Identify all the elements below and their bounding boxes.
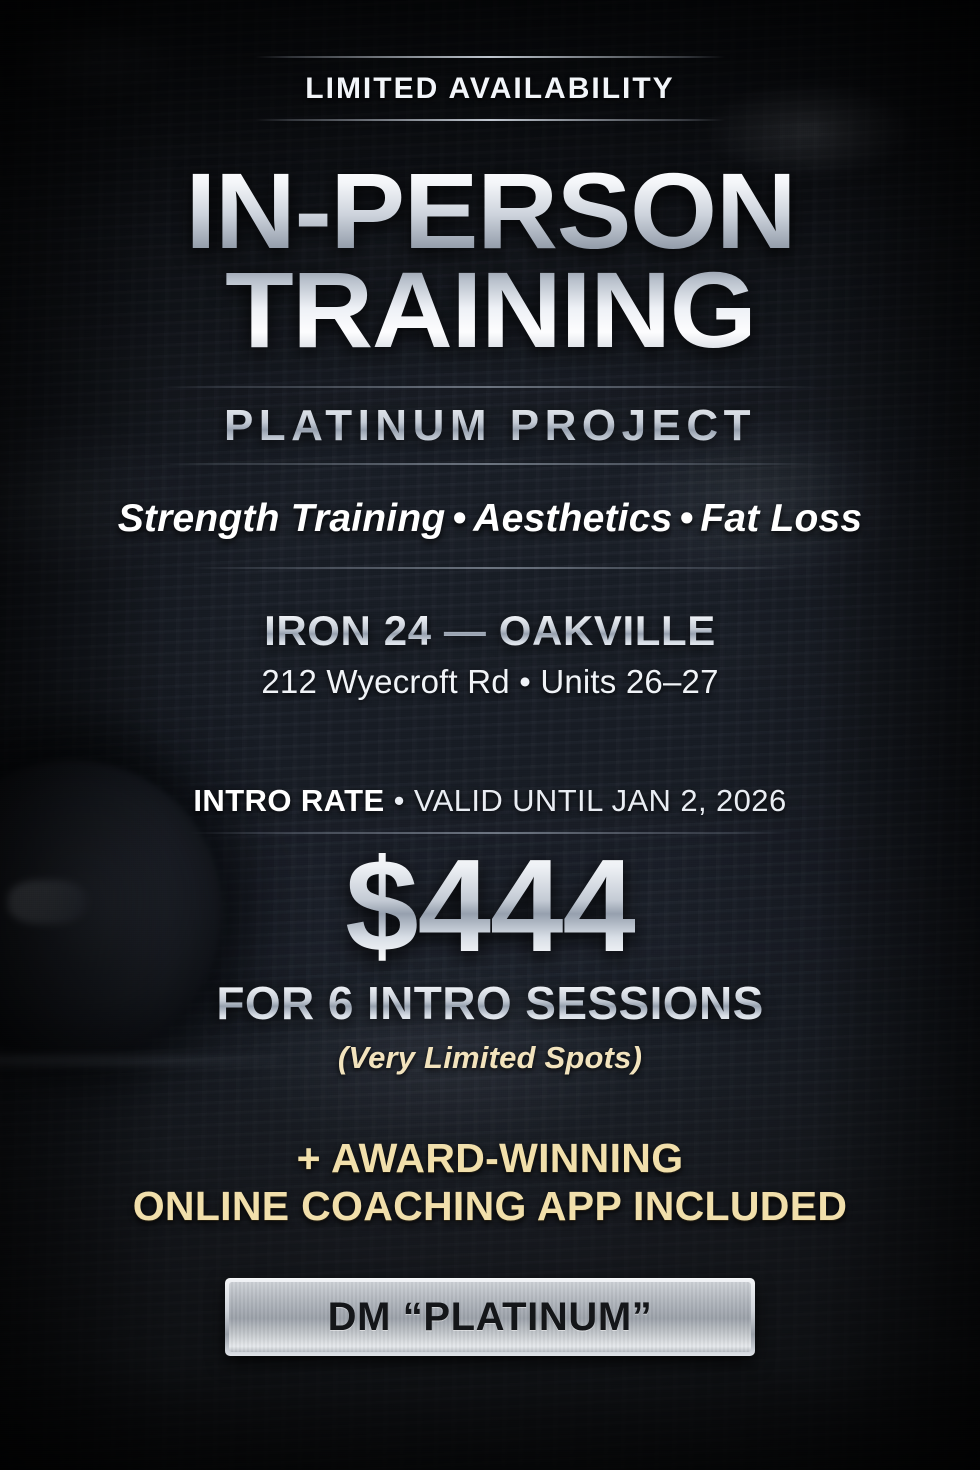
dm-platinum-button[interactable]: DM “PLATINUM” <box>225 1278 755 1356</box>
intro-rate-validity: VALID UNTIL JAN 2, 2026 <box>414 783 787 818</box>
intro-rate-line: INTRO RATE • VALID UNTIL JAN 2, 2026 <box>193 783 786 832</box>
poster-content: LIMITED AVAILABILITY IN-PERSON TRAINING … <box>0 0 980 1470</box>
offer-block: INTRO RATE • VALID UNTIL JAN 2, 2026 $44… <box>190 783 790 1076</box>
intro-rate-separator: • <box>394 783 405 818</box>
intro-rate-label: INTRO RATE <box>193 783 384 818</box>
divider-rule-tagline-bottom <box>190 567 790 569</box>
sessions-label: FOR 6 INTRO SESSIONS <box>216 976 763 1030</box>
bonus-line-1: + AWARD-WINNING <box>297 1135 684 1181</box>
bonus-offer: + AWARD-WINNING ONLINE COACHING APP INCL… <box>133 1134 848 1231</box>
bonus-line-2: ONLINE COACHING APP INCLUDED <box>133 1183 848 1229</box>
page-title: IN-PERSON TRAINING <box>185 161 795 360</box>
eyebrow-block: LIMITED AVAILABILITY <box>255 56 725 121</box>
price-amount: $444 <box>345 840 635 972</box>
headline-line-2: TRAINING <box>225 249 755 370</box>
tagline: Strength Training•Aesthetics•Fat Loss <box>118 497 863 541</box>
venue-address: 212 Wyecroft Rd • Units 26–27 <box>261 663 718 701</box>
divider-rule-eyebrow-bottom <box>255 119 725 121</box>
tagline-item-3: Fat Loss <box>700 497 862 540</box>
venue-block: IRON 24 — OAKVILLE 212 Wyecroft Rd • Uni… <box>261 607 718 701</box>
subhead-block: PLATINUM PROJECT <box>160 386 820 465</box>
tagline-item-2: Aesthetics <box>473 497 672 540</box>
eyebrow-text: LIMITED AVAILABILITY <box>305 58 674 119</box>
venue-name: IRON 24 — OAKVILLE <box>261 607 718 655</box>
divider-rule-subhead-bottom <box>160 463 820 465</box>
cta-plate-surface: DM “PLATINUM” <box>229 1282 751 1352</box>
tagline-separator-2: • <box>679 497 693 540</box>
program-subtitle: PLATINUM PROJECT <box>224 388 756 463</box>
limited-spots-note: (Very Limited Spots) <box>338 1040 642 1076</box>
tagline-item-1: Strength Training <box>118 497 446 540</box>
cta-label: DM “PLATINUM” <box>328 1295 653 1340</box>
tagline-separator-1: • <box>452 497 466 540</box>
promo-poster: LIMITED AVAILABILITY IN-PERSON TRAINING … <box>0 0 980 1470</box>
